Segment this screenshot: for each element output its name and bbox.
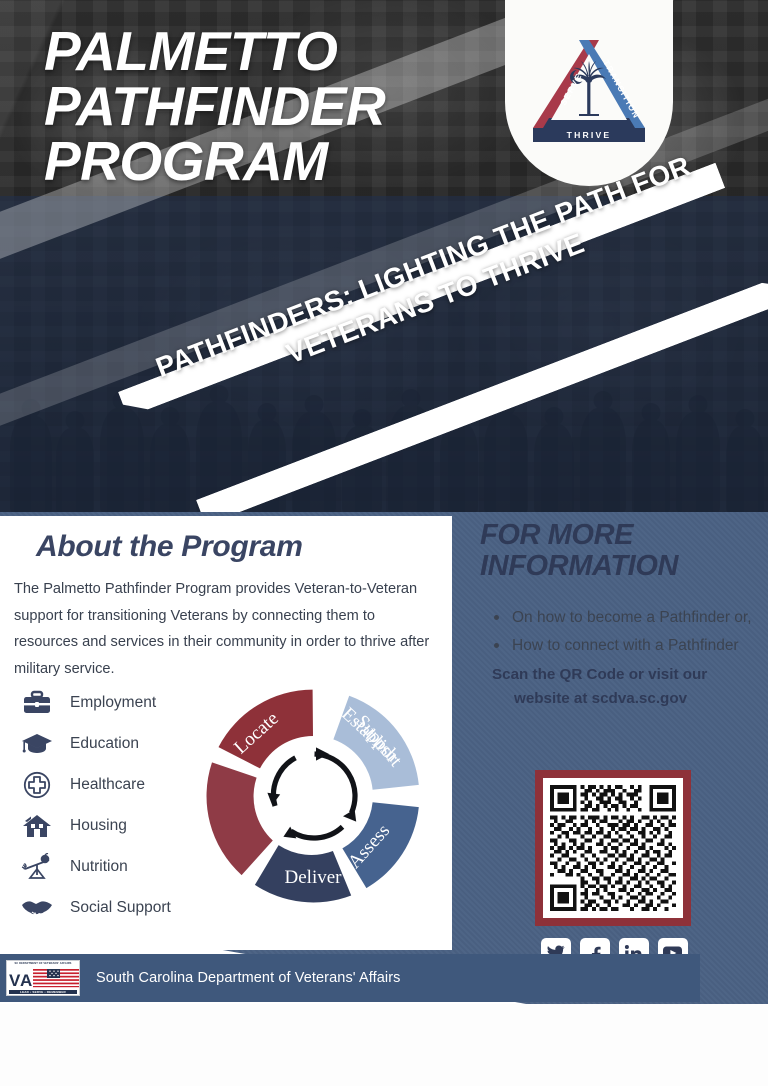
page-title-line-1: PALMETTO [44,24,385,79]
more-information-heading: FOR MORE INFORMATION [480,520,766,582]
va-seal-icon: VA SC DEPARTMENT OF VETERANS' AFFAIRS LE… [6,960,80,996]
more-information-bullets: On how to become a Pathfinder or, How to… [488,606,766,657]
va-seal-top-text: SC DEPARTMENT OF VETERANS' AFFAIRS [7,962,79,965]
medical-cross-icon [16,768,58,802]
cta-line-1: Scan the QR Code or visit our [492,663,766,687]
handshake-icon [16,891,58,925]
poster-page: PALMETTO PATHFINDER PROGRAM PATHFINDERS:… [0,0,768,1086]
more-information-panel: FOR MORE INFORMATION On how to become a … [470,520,766,712]
page-title-line-3: PROGRAM [44,134,385,189]
bullet-item: How to connect with a Pathfinder [488,634,766,658]
va-seal-bottom-text: LEAD • SERVE • REMEMBER [9,990,77,994]
service-label: Nutrition [70,858,128,876]
service-label: Housing [70,817,127,835]
page-title-line-2: PATHFINDER [44,79,385,134]
graduation-cap-icon [16,727,58,761]
poster-paper: PALMETTO PATHFINDER PROGRAM PATHFINDERS:… [0,0,768,1004]
balance-scale-apple-icon [16,850,58,884]
qr-code-inner [543,778,683,918]
service-label: Social Support [70,899,171,917]
service-cycle-chart: Establish Assess Deliver Support Locate [190,678,436,914]
page-title: PALMETTO PATHFINDER PROGRAM [44,24,385,189]
serve-transition-thrive-logo-icon: SERVE TRANSITION THRIVE [525,32,653,152]
bullet-item: On how to become a Pathfinder or, [488,606,766,630]
svg-text:A: A [20,971,32,990]
more-info-title-line-1: FOR MORE [480,520,766,551]
chart-label-deliver: Deliver [285,867,343,888]
logo-thrive-label: THRIVE [567,130,612,140]
footer-agency-name: South Carolina Department of Veterans' A… [96,970,401,986]
briefcase-icon [16,686,58,720]
footer-bar: VA SC DEPARTMENT OF VETERANS' AFFAIRS LE… [0,954,700,1002]
qr-call-to-action: Scan the QR Code or visit our website at… [492,663,766,712]
hero-banner: PALMETTO PATHFINDER PROGRAM PATHFINDERS:… [0,0,768,512]
program-logo-badge: SERVE TRANSITION THRIVE [505,0,673,186]
cta-line-2: website at scdva.sc.gov [514,687,766,711]
about-body-text: The Palmetto Pathfinder Program provides… [14,576,438,682]
qr-code-icon [550,785,676,911]
service-label: Employment [70,694,156,712]
about-heading: About the Program [36,530,303,564]
service-label: Healthcare [70,776,145,794]
house-icon [16,809,58,843]
qr-code-frame[interactable] [535,770,691,926]
service-label: Education [70,735,139,753]
more-info-title-line-2: INFORMATION [480,551,766,582]
